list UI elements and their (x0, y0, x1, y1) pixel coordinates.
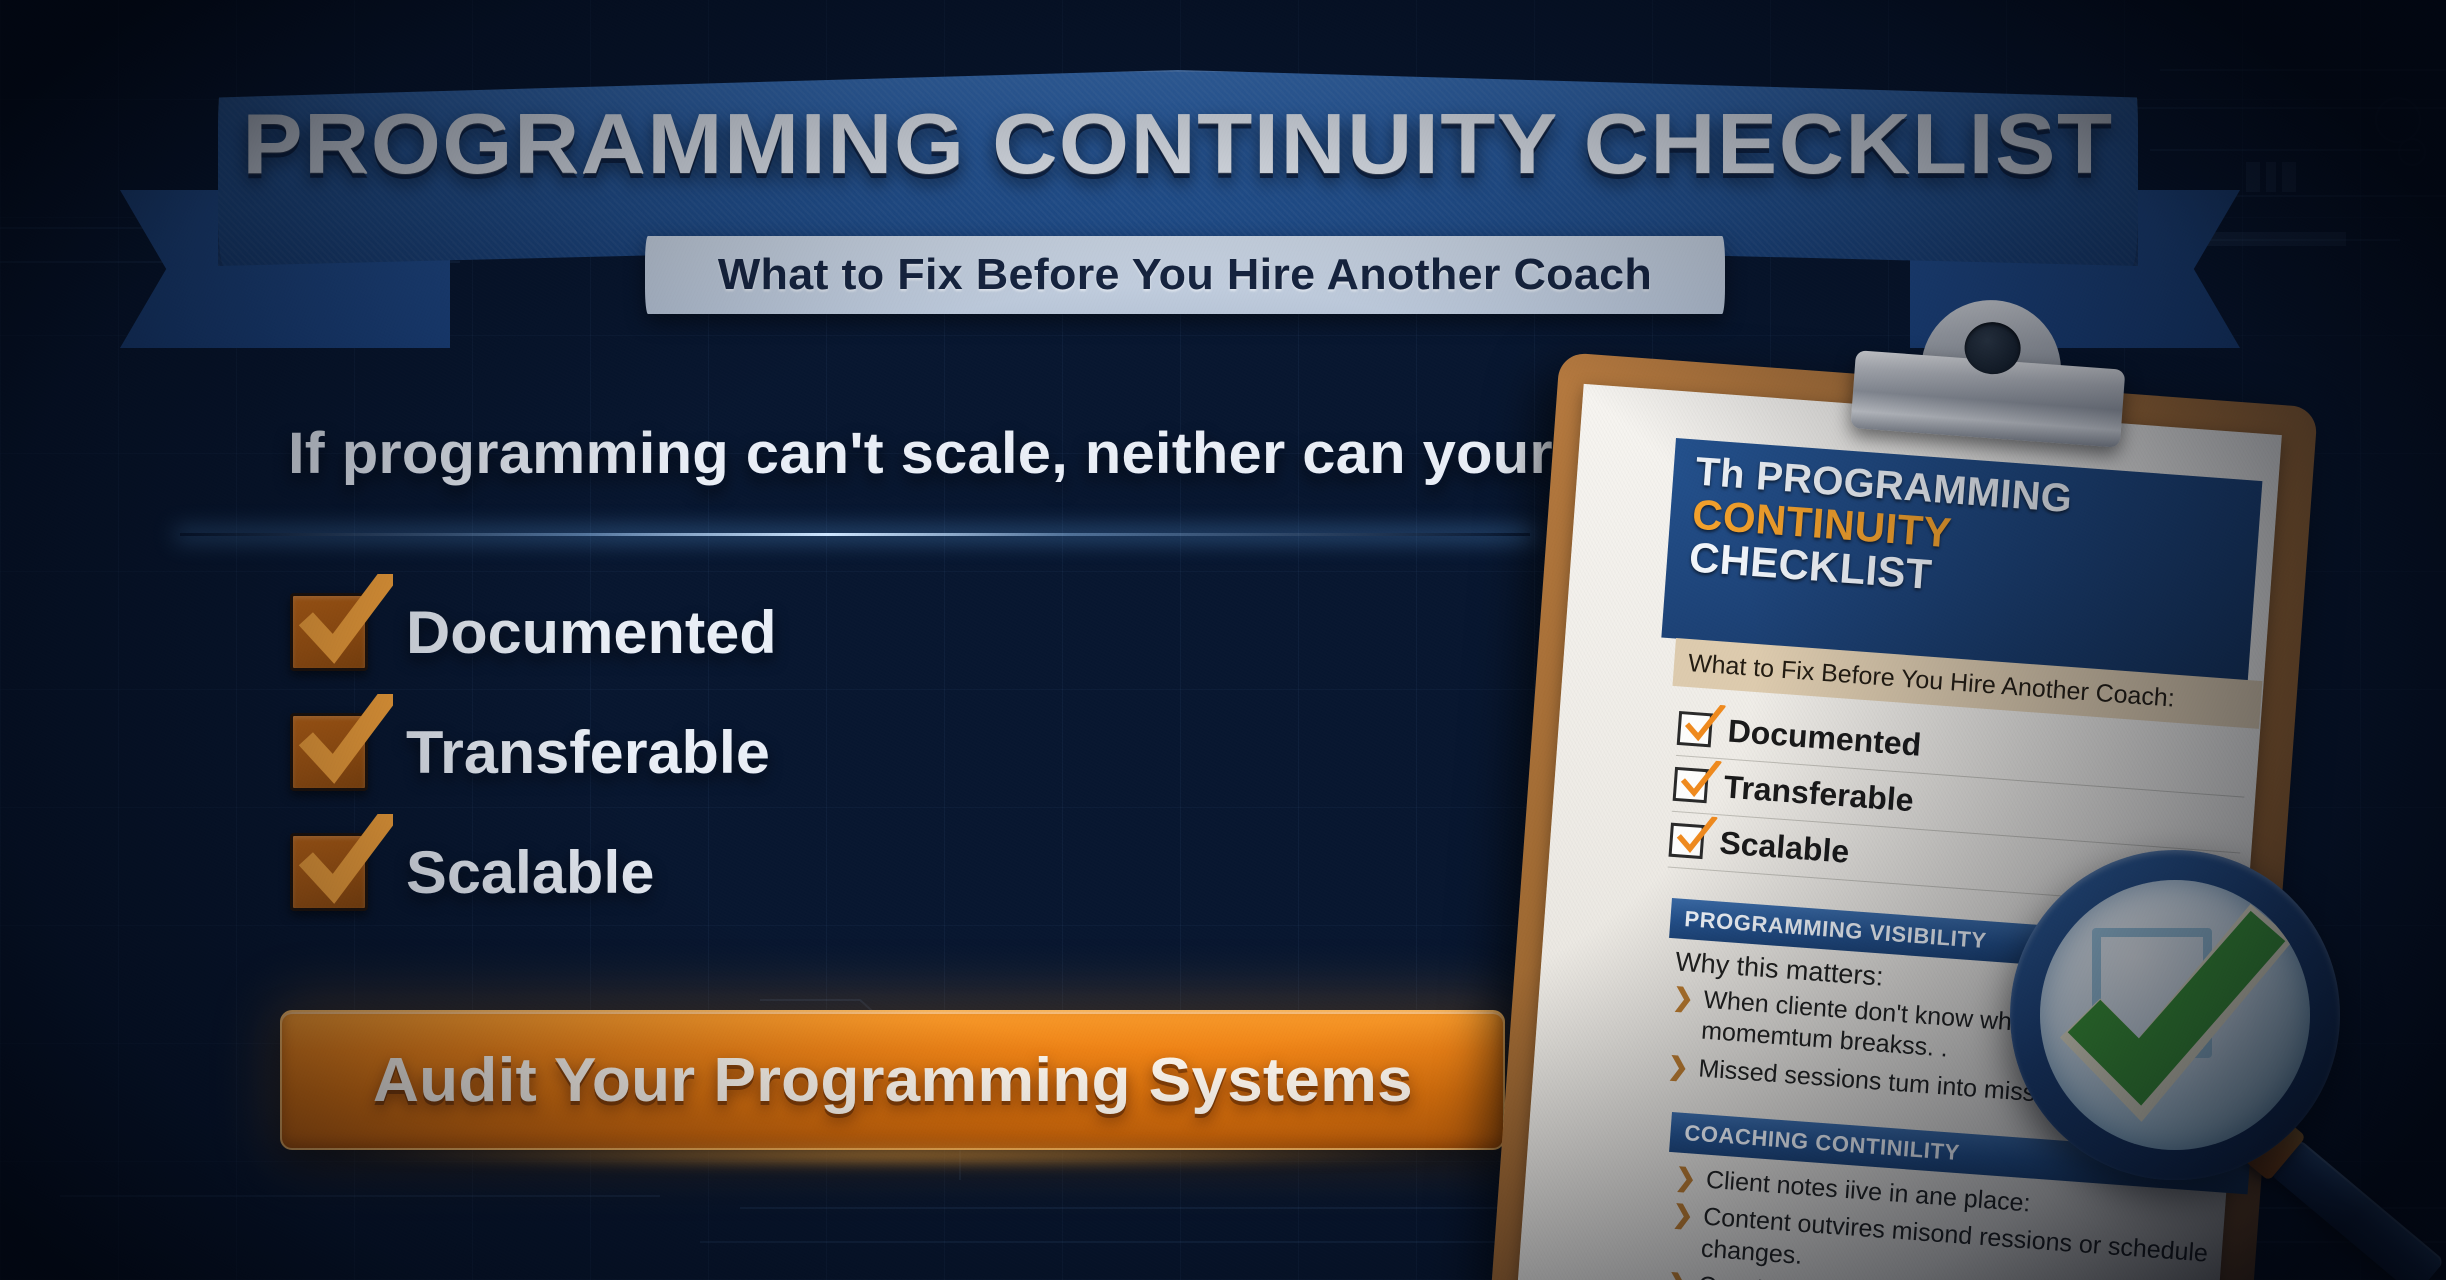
checkbox-documented[interactable] (1677, 710, 1713, 746)
hero-checklist: Documented Transferable Scalable (290, 572, 769, 932)
chevron-right-icon: ❯ (1666, 1268, 1689, 1280)
poster-subtitle: What to Fix Before You Hire Another Coac… (634, 236, 1736, 314)
cta-button[interactable]: Audit Your Programming Systems (280, 1010, 1505, 1150)
poster-canvas: PROGRAMMING CONTINUITY CHECKLIST What to… (0, 0, 2446, 1280)
checkbox-scalable[interactable] (1669, 822, 1705, 858)
subtitle-plaque: What to Fix Before You Hire Another Coac… (645, 236, 1725, 314)
checklist-label: Scalable (406, 838, 654, 907)
checkbox-transferable[interactable] (290, 713, 368, 791)
hero-tagline: If programming can't scale, neither can … (288, 420, 1710, 487)
chevron-right-icon: ❯ (1674, 1162, 1697, 1195)
magnifier-glass (2040, 880, 2310, 1150)
cta-label: Audit Your Programming Systems (373, 1045, 1413, 1116)
clipboard-checklist-label: Transferable (1722, 768, 1915, 819)
clipboard-checklist-label: Documented (1726, 713, 1922, 764)
checklist-item[interactable]: Scalable (290, 812, 769, 932)
checkbox-scalable[interactable] (290, 833, 368, 911)
poster-title: PROGRAMMING CONTINUITY CHECKLIST (160, 96, 2195, 194)
checkbox-documented[interactable] (290, 593, 368, 671)
checklist-label: Transferable (406, 718, 770, 787)
check-icon (1681, 702, 1726, 747)
green-checkmark-icon (2040, 880, 2310, 1150)
checklist-item[interactable]: Transferable (290, 692, 769, 812)
check-icon (297, 694, 393, 790)
clipboard-checklist-label: Scalable (1718, 824, 1850, 870)
chevron-right-icon: ❯ (1669, 1200, 1694, 1264)
check-icon (1677, 758, 1722, 803)
checklist-label: Documented (406, 598, 777, 667)
chevron-right-icon: ❯ (1667, 1051, 1690, 1084)
magnifying-glass-icon (2010, 850, 2340, 1180)
clipboard-clip-icon (1850, 290, 2130, 449)
check-icon (297, 814, 393, 910)
checkbox-transferable[interactable] (1673, 766, 1709, 802)
check-icon (297, 574, 393, 670)
section-divider (180, 533, 1530, 536)
chevron-right-icon: ❯ (1669, 982, 1694, 1046)
check-icon (1673, 813, 1718, 858)
checklist-item[interactable]: Documented (290, 572, 769, 692)
